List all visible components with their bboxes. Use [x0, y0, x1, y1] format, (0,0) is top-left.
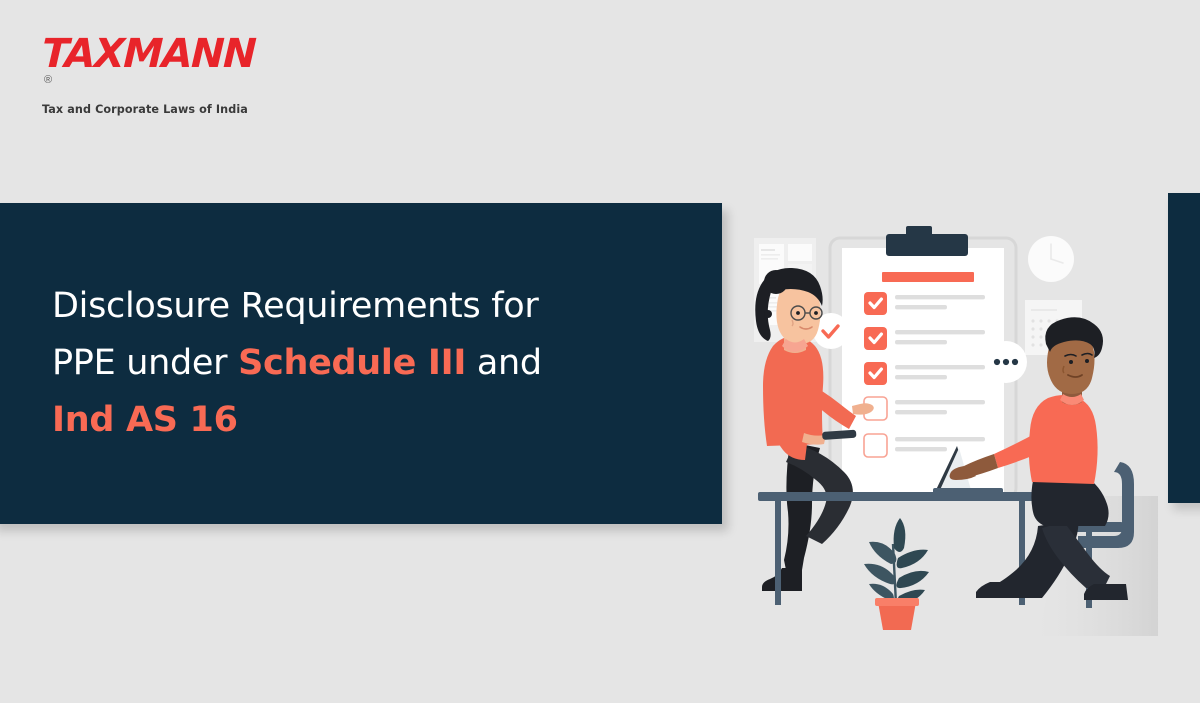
logo-tagline: Tax and Corporate Laws of India: [42, 103, 262, 116]
logo-wordmark: TAXMANN: [41, 34, 256, 74]
taxmann-logo[interactable]: TAXMANN® Tax and Corporate Laws of India: [42, 34, 262, 116]
logo-wordmark-row: TAXMANN®: [42, 34, 262, 94]
headline-line-1-text: Disclosure Requirements for: [52, 286, 538, 326]
wall-clock-icon: [1028, 236, 1074, 282]
banner-canvas: TAXMANN® Tax and Corporate Laws of India…: [0, 0, 1200, 703]
hero-illustration: [738, 196, 1158, 636]
headline-line-3: Ind AS 16: [52, 392, 694, 449]
right-accent-panel: [1168, 193, 1200, 503]
checklist-title-bar: [882, 272, 974, 282]
page-title: Disclosure Requirements for PPE under Sc…: [52, 278, 694, 448]
potted-plant: [864, 518, 929, 630]
headline-line-2: PPE under Schedule III and: [52, 335, 694, 392]
headline-line-2-prefix: PPE under: [52, 343, 238, 383]
headline-line-2-suffix: and: [466, 343, 542, 383]
headline-panel: Disclosure Requirements for PPE under Sc…: [0, 203, 722, 524]
headline-accent-schedule: Schedule III: [238, 343, 466, 383]
headline-line-1: Disclosure Requirements for: [52, 278, 694, 335]
headline-accent-indas: Ind AS 16: [52, 400, 238, 440]
